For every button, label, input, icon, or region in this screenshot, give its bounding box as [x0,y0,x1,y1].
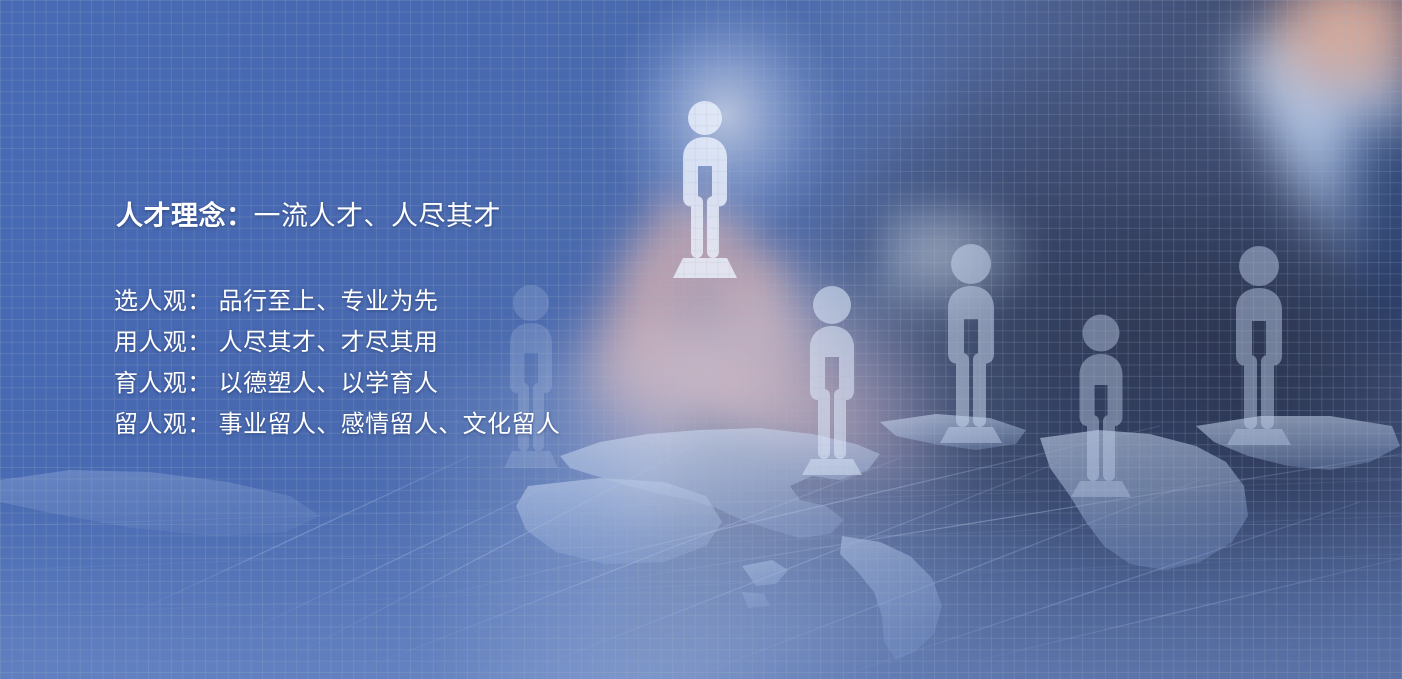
principle-line-1: 选人观： 品行至上、专业为先 [114,281,734,322]
principle-line-3: 育人观： 以德塑人、以学育人 [114,363,734,404]
principle-line-2: 用人观： 人尽其才、才尽其用 [114,322,734,363]
slide-canvas: 人才理念：一流人才、人尽其才 选人观： 品行至上、专业为先 用人观： 人尽其才、… [0,0,1402,679]
text-block: 人才理念：一流人才、人尽其才 选人观： 品行至上、专业为先 用人观： 人尽其才、… [114,196,734,445]
page-title-prefix: 人才理念： [116,201,254,231]
page-title-rest: 一流人才、人尽其才 [254,201,502,231]
page-title: 人才理念：一流人才、人尽其才 [116,196,734,236]
principle-line-4: 留人观： 事业留人、感情留人、文化留人 [114,404,734,445]
principles-list: 选人观： 品行至上、专业为先 用人观： 人尽其才、才尽其用 育人观： 以德塑人、… [114,281,734,445]
